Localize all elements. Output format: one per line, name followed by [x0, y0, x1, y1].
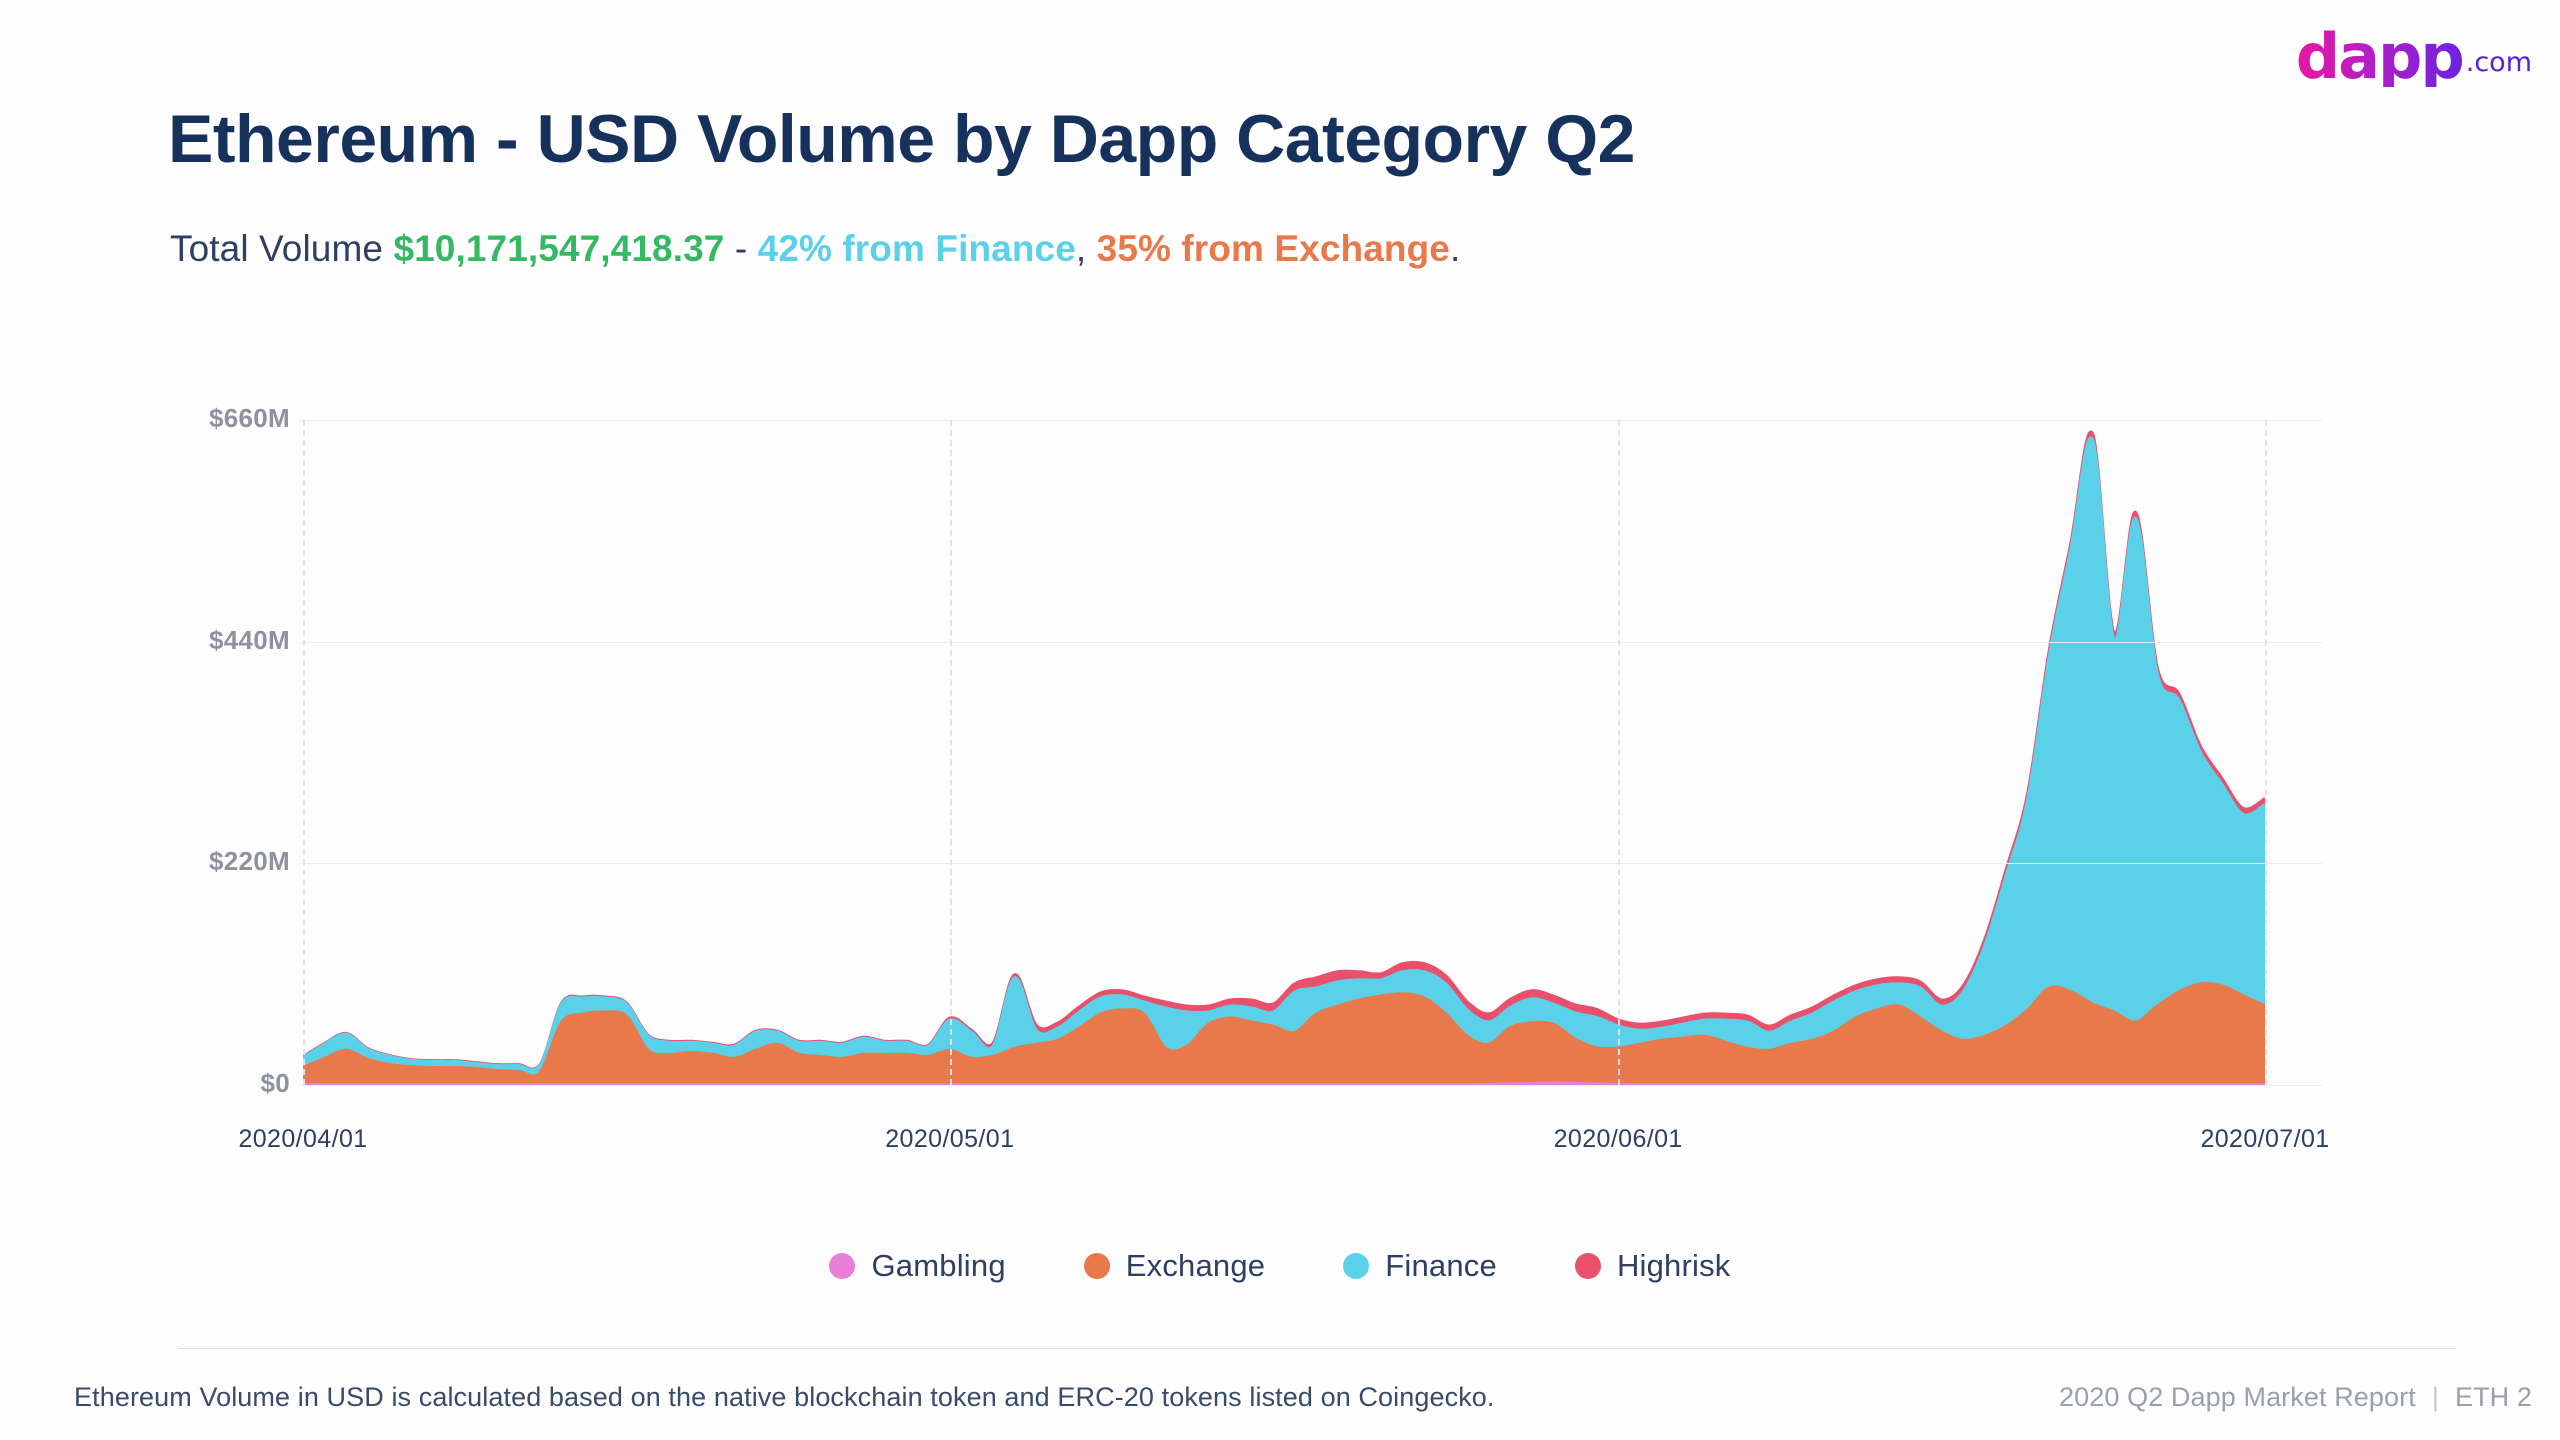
footer-report-name: 2020 Q2 Dapp Market Report: [2059, 1382, 2416, 1413]
legend-dot-icon: [1343, 1253, 1369, 1279]
y-axis-tick-label: $0: [70, 1068, 290, 1099]
gridline-vertical: [2265, 420, 2267, 1085]
x-axis-tick-label: 2020/07/01: [2200, 1125, 2329, 1154]
area-series-finance: [303, 438, 2265, 1085]
gridline-horizontal: [300, 1085, 2322, 1086]
y-axis-tick-label: $220M: [70, 846, 290, 877]
logo-tld: .com: [2466, 47, 2532, 78]
total-volume-value: $10,171,547,418.37: [393, 228, 724, 269]
stacked-area-chart: $0$220M$440M$660M2020/04/012020/05/01202…: [0, 400, 2560, 1100]
x-axis-tick-label: 2020/06/01: [1554, 1125, 1683, 1154]
exchange-share: 35% from Exchange: [1097, 228, 1450, 269]
y-axis-tick-label: $440M: [70, 625, 290, 656]
logo-wordmark: dapp: [2296, 28, 2463, 87]
dapp-logo: dapp .com: [2296, 28, 2532, 87]
footer-separator: |: [2432, 1382, 2439, 1413]
chart-legend: GamblingExchangeFinanceHighrisk: [0, 1248, 2560, 1284]
finance-share: 42% from Finance: [758, 228, 1076, 269]
footer-note: Ethereum Volume in USD is calculated bas…: [74, 1382, 1495, 1413]
legend-dot-icon: [829, 1253, 855, 1279]
x-axis-tick-label: 2020/05/01: [885, 1125, 1014, 1154]
legend-item-label: Highrisk: [1617, 1248, 1731, 1284]
x-axis-tick-label: 2020/04/01: [238, 1125, 367, 1154]
legend-item-exchange[interactable]: Exchange: [1084, 1248, 1265, 1284]
subtitle-period: .: [1450, 228, 1460, 269]
area-outline-highrisk: [303, 432, 2265, 1069]
subtitle-dash: -: [724, 228, 757, 269]
y-axis-tick-label: $660M: [70, 403, 290, 434]
legend-item-finance[interactable]: Finance: [1343, 1248, 1497, 1284]
plot-area: [303, 420, 2265, 1085]
gridline-vertical: [303, 420, 305, 1085]
gridline-vertical: [1618, 420, 1620, 1085]
footer-meta: 2020 Q2 Dapp Market Report | ETH 2: [2059, 1382, 2532, 1413]
footer-chain: ETH 2: [2455, 1382, 2532, 1413]
gridline-horizontal: [300, 420, 2322, 421]
page-title: Ethereum - USD Volume by Dapp Category Q…: [168, 100, 1635, 178]
legend-item-gambling[interactable]: Gambling: [829, 1248, 1005, 1284]
legend-item-label: Gambling: [871, 1248, 1005, 1284]
footer-divider: [178, 1348, 2456, 1349]
legend-dot-icon: [1575, 1253, 1601, 1279]
legend-item-label: Finance: [1385, 1248, 1497, 1284]
subtitle: Total Volume $10,171,547,418.37 - 42% fr…: [170, 228, 1460, 270]
subtitle-lead: Total Volume: [170, 228, 393, 269]
legend-dot-icon: [1084, 1253, 1110, 1279]
chart-canvas: [303, 420, 2265, 1085]
legend-item-label: Exchange: [1126, 1248, 1265, 1284]
legend-item-highrisk[interactable]: Highrisk: [1575, 1248, 1731, 1284]
gridline-vertical: [950, 420, 952, 1085]
slide-root: dapp .com Ethereum - USD Volume by Dapp …: [0, 0, 2560, 1440]
gridline-horizontal: [300, 863, 2322, 864]
subtitle-comma: ,: [1076, 228, 1097, 269]
gridline-horizontal: [300, 642, 2322, 643]
